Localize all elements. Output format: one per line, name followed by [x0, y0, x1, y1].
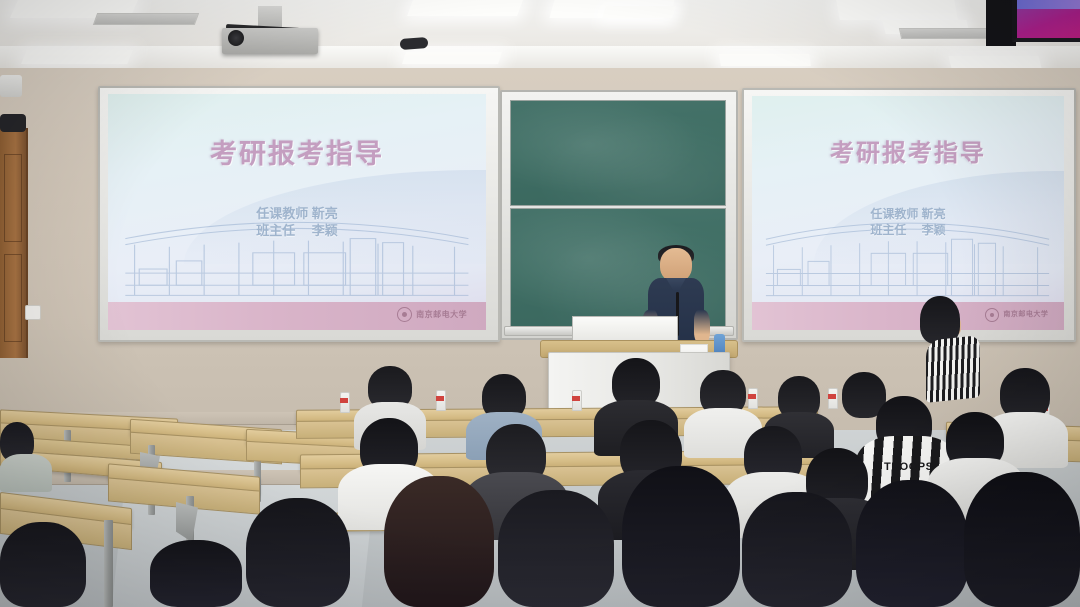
- corner-display-screen[interactable]: [1012, 0, 1080, 42]
- water-bottle: [828, 388, 838, 409]
- logo-seal-icon: [985, 308, 999, 322]
- ceiling-light-panel: [602, 6, 676, 18]
- ceiling-light-panel: [402, 52, 502, 64]
- student-head: [622, 466, 740, 607]
- student-head: [498, 490, 614, 607]
- student-head: [742, 492, 852, 607]
- classroom-door[interactable]: [0, 128, 28, 358]
- ceiling-light-panel: [719, 54, 811, 66]
- wall-speaker-icon: [0, 75, 22, 97]
- ceiling-light-panel: [407, 0, 523, 16]
- ceiling-vent: [93, 13, 199, 25]
- slide-title: 考研报考指导: [752, 133, 1064, 168]
- logo-text: 南京邮电大学: [1003, 311, 1048, 318]
- ceiling-light-panel: [21, 50, 133, 64]
- chalkboard-panel-upper[interactable]: [510, 100, 726, 206]
- right-projection-screen[interactable]: 考研报考指导 任课教师 靳亮 班主任 李颖 南京邮电大学: [752, 96, 1064, 330]
- student-head: [384, 476, 494, 607]
- lecture-hall-photo: 考研报考指导 任课教师 靳亮 班主任 李颖 南京邮电大学: [0, 0, 1080, 607]
- water-bottle: [572, 390, 582, 411]
- student-head: [856, 480, 968, 607]
- water-bottle: [436, 390, 446, 411]
- ceiling-light-panel: [836, 0, 958, 20]
- projector-lens-icon: [228, 30, 244, 46]
- student-head: [0, 522, 86, 607]
- slide-subtitle: 任课教师 靳亮 班主任 李颖: [108, 205, 486, 240]
- student-head: [150, 540, 242, 607]
- ceiling-speaker-icon: [400, 37, 429, 50]
- desk-leg: [104, 520, 113, 607]
- standing-assistant: [916, 296, 980, 400]
- presenter-arm-right: [694, 310, 710, 344]
- wall-camera-icon: [0, 114, 26, 132]
- slide-subtitle: 任课教师 靳亮 班主任 李颖: [752, 206, 1064, 238]
- light-switch[interactable]: [25, 305, 41, 320]
- presenter-head: [660, 248, 692, 282]
- slide-canvas: 考研报考指导 任课教师 靳亮 班主任 李颖 南京邮电大学: [108, 94, 486, 330]
- ceiling-vent: [899, 28, 997, 39]
- slide-canvas: 考研报考指导 任课教师 靳亮 班主任 李颖 南京邮电大学: [752, 96, 1064, 330]
- assistant-checked-top: [926, 335, 980, 403]
- logo-seal-icon: [397, 307, 412, 322]
- student-head: [964, 472, 1080, 607]
- student-body: [0, 454, 52, 492]
- left-projection-screen[interactable]: 考研报考指导 任课教师 靳亮 班主任 李颖 南京邮电大学: [108, 94, 486, 330]
- student-head: [246, 498, 350, 607]
- shirt-graphic-text: TROOPS: [884, 462, 933, 473]
- ceiling-light-panel: [949, 56, 1042, 68]
- slide-university-logo: 南京邮电大学: [397, 304, 467, 325]
- water-bottle: [748, 388, 758, 409]
- logo-text: 南京邮电大学: [416, 311, 467, 319]
- ceiling: [0, 0, 1080, 72]
- slide-title: 考研报考指导: [108, 132, 486, 171]
- slide-university-logo: 南京邮电大学: [985, 304, 1048, 325]
- water-bottle: [340, 392, 350, 413]
